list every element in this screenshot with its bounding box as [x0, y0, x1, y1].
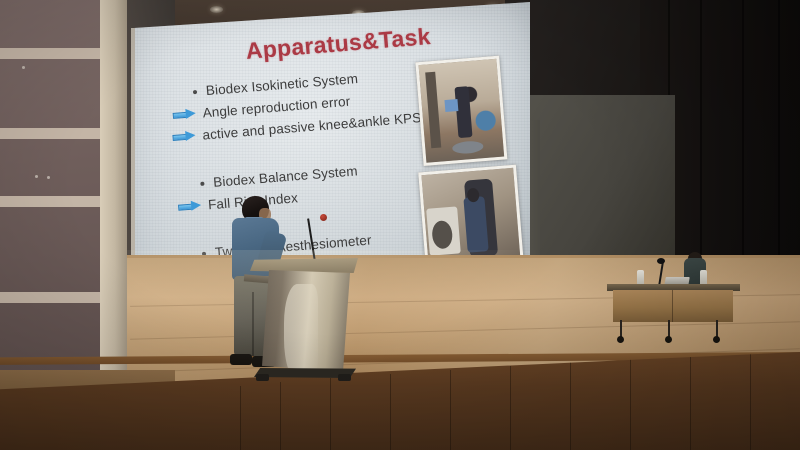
bullet-dot-icon — [200, 181, 204, 185]
arrow-right-icon — [172, 108, 197, 121]
table-caster — [665, 336, 672, 343]
wall-pillar — [100, 0, 127, 400]
auditorium-photo: Apparatus&Task Biodex Isokinetic System … — [0, 0, 800, 450]
presenter-shoe — [230, 354, 252, 365]
podium-top — [250, 258, 358, 273]
podium — [258, 258, 350, 380]
bullet-dot-icon — [193, 89, 197, 93]
table-caster — [713, 336, 720, 343]
slide-bullet: Biodex Balance System — [200, 163, 358, 191]
arrow-right-icon — [172, 130, 197, 143]
microphone-icon — [320, 214, 327, 221]
arrow-right-icon — [178, 200, 203, 213]
table-microphone-icon — [657, 258, 665, 264]
podium-body — [262, 270, 350, 372]
slide-title: Apparatus&Task — [245, 23, 432, 65]
table-front-panel — [613, 290, 733, 322]
slide-bullet-label: Biodex Balance System — [213, 163, 358, 190]
slide-photo-balance-platform — [415, 56, 507, 166]
table-caster — [617, 336, 624, 343]
